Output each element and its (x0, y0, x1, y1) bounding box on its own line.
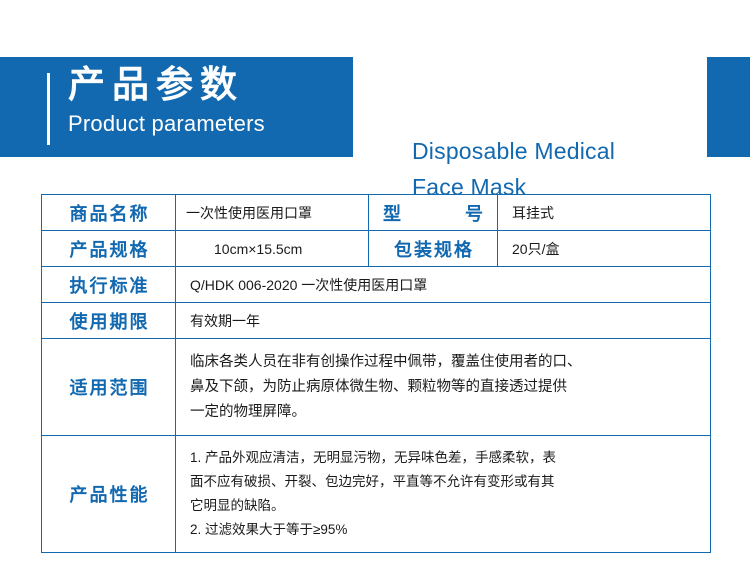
scope-line-1: 临床各类人员在非有创操作过程中佩带，覆盖住使用者的口、 (190, 350, 696, 375)
row-label-product-size: 产品规格 (42, 231, 176, 267)
row-value-standard: Q/HDK 006-2020 一次性使用医用口罩 (176, 267, 711, 303)
row-label-scope: 适用范围 (42, 339, 176, 436)
header-banner: 产品参数 Product parameters (0, 57, 353, 157)
performance-line-2: 面不应有破损、开裂、包边完好，平直等不允许有变形或有其 (190, 470, 696, 494)
scope-line-3: 一定的物理屏障。 (190, 400, 696, 425)
product-specification-table: 商品名称 一次性使用医用口罩 型号 耳挂式 产品规格 10cm×15.5cm 包… (41, 194, 711, 553)
row-label-product-name: 商品名称 (42, 195, 176, 231)
performance-line-1: 1. 产品外观应清洁，无明显污物，无异味色差，手感柔软，表 (190, 446, 696, 470)
banner-accent-bar (47, 73, 50, 145)
row-value-package-size: 20只/盒 (498, 231, 711, 267)
right-accent-block (707, 57, 750, 157)
performance-line-3: 它明显的缺陷。 (190, 494, 696, 518)
row-label-model: 型号 (369, 195, 498, 231)
table-row: 产品规格 10cm×15.5cm 包装规格 20只/盒 (42, 231, 711, 267)
banner-title-english: Product parameters (68, 110, 265, 138)
row-value-model: 耳挂式 (498, 195, 711, 231)
row-value-product-size: 10cm×15.5cm (176, 231, 369, 267)
row-label-package-size: 包装规格 (369, 231, 498, 267)
table-row: 适用范围 临床各类人员在非有创操作过程中佩带，覆盖住使用者的口、 鼻及下颌，为防… (42, 339, 711, 436)
row-value-scope: 临床各类人员在非有创操作过程中佩带，覆盖住使用者的口、 鼻及下颌，为防止病原体微… (176, 339, 711, 436)
row-value-shelf-life: 有效期一年 (176, 303, 711, 339)
header-area: 产品参数 Product parameters Disposable Medic… (0, 57, 750, 157)
row-label-shelf-life: 使用期限 (42, 303, 176, 339)
row-value-performance: 1. 产品外观应清洁，无明显污物，无异味色差，手感柔软，表 面不应有破损、开裂、… (176, 436, 711, 553)
table-row: 产品性能 1. 产品外观应清洁，无明显污物，无异味色差，手感柔软，表 面不应有破… (42, 436, 711, 553)
table-row: 商品名称 一次性使用医用口罩 型号 耳挂式 (42, 195, 711, 231)
row-label-performance: 产品性能 (42, 436, 176, 553)
performance-line-4: 2. 过滤效果大于等于≥95% (190, 518, 696, 542)
row-label-standard: 执行标准 (42, 267, 176, 303)
product-name-title-line1: Disposable Medical (412, 133, 662, 169)
banner-title-chinese: 产品参数 (68, 62, 244, 107)
table-row: 执行标准 Q/HDK 006-2020 一次性使用医用口罩 (42, 267, 711, 303)
table-row: 使用期限 有效期一年 (42, 303, 711, 339)
scope-line-2: 鼻及下颌，为防止病原体微生物、颗粒物等的直接透过提供 (190, 375, 696, 400)
row-value-product-name: 一次性使用医用口罩 (176, 195, 369, 231)
